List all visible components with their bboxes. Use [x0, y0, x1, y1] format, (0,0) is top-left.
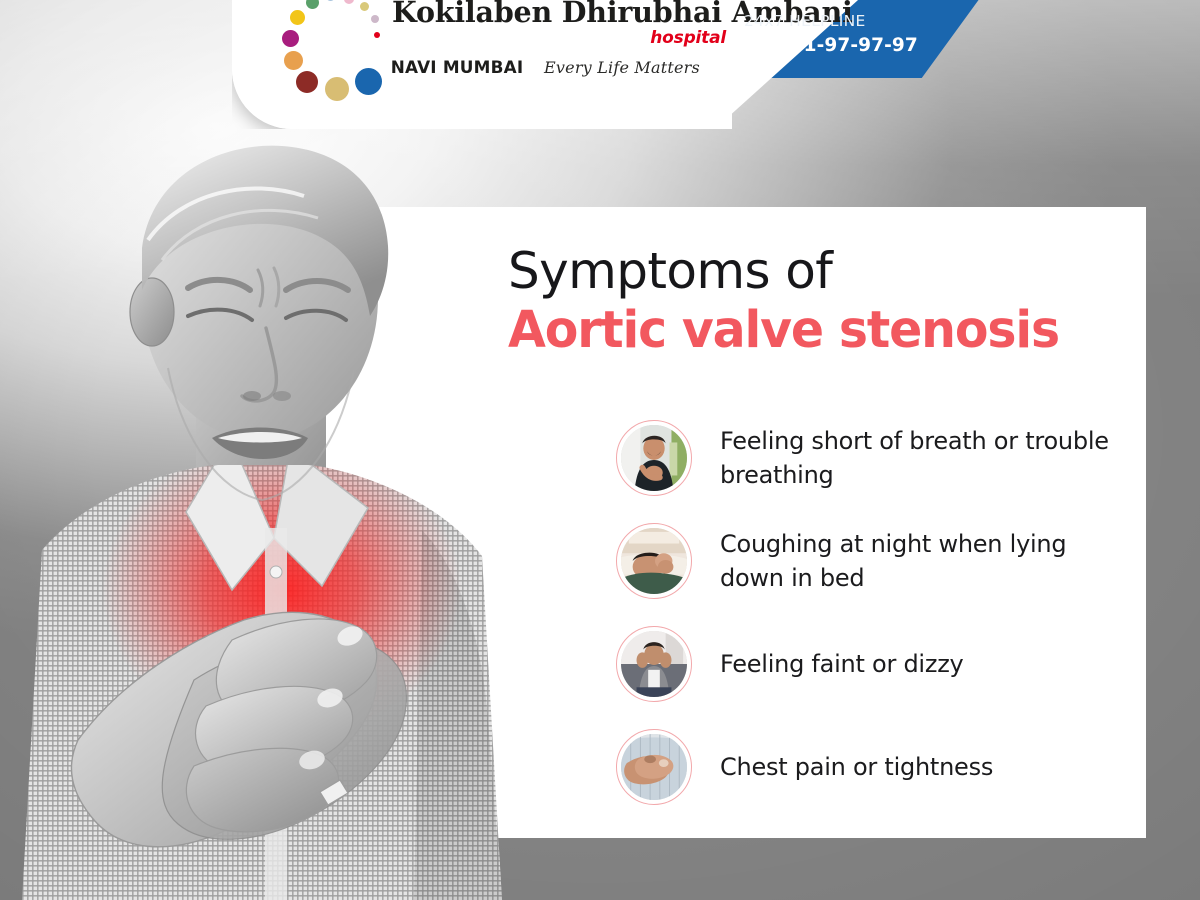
logo-dot	[325, 77, 349, 101]
logo-dot-accent	[374, 32, 380, 38]
logo-dot	[326, 0, 335, 1]
man-clutching-chest-photo-icon	[616, 729, 692, 805]
headline-line-2: Aortic valve stenosis	[508, 304, 1059, 358]
man-short-of-breath-photo-icon	[616, 420, 692, 496]
logo-dot	[282, 30, 299, 47]
logo-dot	[344, 0, 354, 4]
logo-dot	[355, 68, 382, 95]
helpline-text-block: 24x7 HELPLINE 022-71-97-97-97	[744, 12, 1004, 58]
poster-canvas: Symptoms of Aortic valve stenosis	[0, 0, 1200, 900]
headline-block: Symptoms of Aortic valve stenosis	[508, 245, 1082, 358]
list-item: Feeling faint or dizzy	[616, 620, 1116, 708]
man-coughing-in-bed-photo-icon	[616, 523, 692, 599]
helpline-label: 24x7 HELPLINE	[744, 12, 1004, 32]
logo-dot	[360, 2, 369, 11]
logo-dot	[296, 71, 318, 93]
logo-city: NAVI MUMBAI	[391, 58, 524, 77]
headline-line-1: Symptoms of	[508, 245, 1082, 298]
list-item: Chest pain or tightness	[616, 723, 1116, 811]
logo-dot	[306, 0, 319, 9]
symptom-label: Feeling faint or dizzy	[720, 647, 964, 681]
helpline-number[interactable]: 022-71-97-97-97	[744, 34, 1004, 58]
logo-bottom-row: NAVI MUMBAI Every Life Matters	[392, 58, 732, 77]
list-item: Coughing at night when lying down in bed	[616, 517, 1116, 605]
logo-dot	[371, 15, 379, 23]
man-dizzy-holding-head-photo-icon	[616, 626, 692, 702]
patient-photo	[0, 120, 542, 900]
symptom-label: Coughing at night when lying down in bed	[720, 527, 1116, 595]
symptom-list: Feeling short of breath or trouble breat…	[616, 414, 1116, 826]
symptom-label: Chest pain or tightness	[720, 750, 993, 784]
logo-dot	[284, 51, 303, 70]
symptom-label: Feeling short of breath or trouble breat…	[720, 424, 1116, 492]
header-card-inner: Kokilaben Dhirubhai Ambani hospital NAVI…	[232, 0, 732, 129]
list-item: Feeling short of breath or trouble breat…	[616, 414, 1116, 502]
logo-hospital-name: Kokilaben Dhirubhai Ambani	[392, 0, 732, 27]
logo-tagline: Every Life Matters	[544, 58, 700, 77]
logo-hospital-word: hospital	[392, 28, 726, 48]
logo-dot	[290, 10, 305, 25]
logo-dots-icon	[274, 0, 384, 98]
logo-text-block: Kokilaben Dhirubhai Ambani hospital NAVI…	[392, 0, 732, 77]
hospital-logo[interactable]: Kokilaben Dhirubhai Ambani hospital NAVI…	[232, 0, 732, 120]
